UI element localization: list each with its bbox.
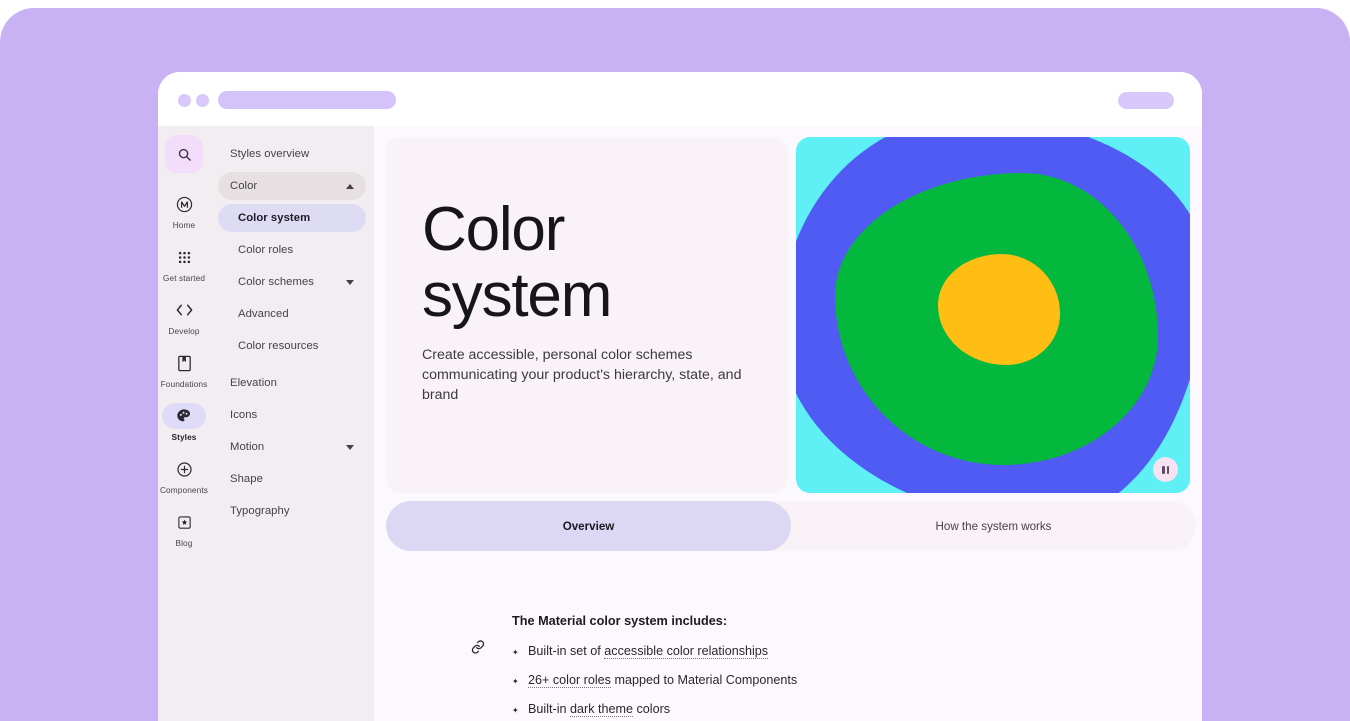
palette-icon <box>176 408 192 424</box>
styles-icon-wrap <box>162 403 206 429</box>
sidebar-item-blog[interactable]: Blog <box>158 509 210 548</box>
nav-item-color[interactable]: Color <box>218 172 366 200</box>
tab-how-the-system-works[interactable]: How the system works <box>791 501 1196 551</box>
list-item: ✦ Built-in set of accessible color relat… <box>512 644 1190 658</box>
nav-item-label: Motion <box>230 441 264 453</box>
pause-icon <box>1167 466 1170 474</box>
chevron-down-icon <box>346 445 354 450</box>
home-icon-wrap <box>162 191 206 217</box>
code-brackets-icon <box>175 302 194 318</box>
content-tabs: Overview How the system works <box>386 501 1196 551</box>
list-item-prefix: Built-in set of <box>528 644 604 658</box>
window-control-dot-2[interactable] <box>196 94 209 107</box>
inline-link[interactable]: dark theme <box>570 702 633 717</box>
tab-overview[interactable]: Overview <box>386 501 791 551</box>
address-bar[interactable] <box>218 91 396 109</box>
nav-item-label: Styles overview <box>230 148 309 160</box>
nav-item-label: Color schemes <box>238 276 314 288</box>
list-item: ✦ 26+ color roles mapped to Material Com… <box>512 673 1190 687</box>
article-heading: The Material color system includes: <box>512 614 1190 628</box>
nav-item-color-resources[interactable]: Color resources <box>218 332 366 360</box>
nav-item-motion[interactable]: Motion <box>218 433 366 461</box>
sidebar-item-label: Develop <box>168 326 199 336</box>
search-icon <box>177 147 192 162</box>
hero-text-card: Color system Create accessible, personal… <box>386 137 788 493</box>
sparkle-bullet-icon: ✦ <box>512 648 520 657</box>
sidebar-item-label: Components <box>160 485 208 495</box>
grid-apps-icon <box>177 250 192 265</box>
nav-item-label: Color roles <box>238 244 293 256</box>
list-item: ✦ Built-in dark theme colors <box>512 702 1190 716</box>
nav-item-typography[interactable]: Typography <box>218 497 366 525</box>
hero-artwork <box>796 137 1190 493</box>
components-icon-wrap <box>162 456 206 482</box>
search-button[interactable] <box>165 135 203 173</box>
nav-item-styles-overview[interactable]: Styles overview <box>218 140 366 168</box>
pause-animation-button[interactable] <box>1153 457 1178 482</box>
sidebar-item-foundations[interactable]: Foundations <box>158 350 210 389</box>
nav-item-label: Color <box>230 180 257 192</box>
sparkle-bullet-icon: ✦ <box>512 677 520 686</box>
sidebar-item-label: Foundations <box>161 379 208 389</box>
nav-item-label: Color system <box>238 212 310 224</box>
link-icon <box>470 639 486 655</box>
sidebar-item-get-started[interactable]: Get started <box>158 244 210 283</box>
list-item-text: 26+ color roles mapped to Material Compo… <box>528 673 797 687</box>
anchor-link-button[interactable] <box>470 639 486 660</box>
nav-item-label: Elevation <box>230 377 277 389</box>
sidebar-item-home[interactable]: Home <box>158 191 210 230</box>
browser-window: Home Get started <box>158 72 1202 721</box>
page-title: Color system <box>422 197 750 329</box>
nav-item-elevation[interactable]: Elevation <box>218 369 366 397</box>
page-subtitle: Create accessible, personal color scheme… <box>422 345 742 405</box>
nav-item-label: Shape <box>230 473 263 485</box>
sidebar-item-label: Get started <box>163 273 205 283</box>
sidebar-item-label: Blog <box>175 538 192 548</box>
icon-rail: Home Get started <box>158 126 210 721</box>
sidebar-item-develop[interactable]: Develop <box>158 297 210 336</box>
star-box-icon <box>177 515 192 530</box>
nav-item-advanced[interactable]: Advanced <box>218 300 366 328</box>
inline-link[interactable]: accessible color relationships <box>604 644 768 659</box>
nav-item-color-roles[interactable]: Color roles <box>218 236 366 264</box>
sidebar-item-components[interactable]: Components <box>158 456 210 495</box>
list-item-suffix: mapped to Material Components <box>611 673 797 687</box>
nav-item-icons[interactable]: Icons <box>218 401 366 429</box>
screenshot-stage: Home Get started <box>0 0 1350 721</box>
material-m-logo-icon <box>176 196 193 213</box>
browser-chrome <box>158 72 1202 126</box>
list-item-text: Built-in dark theme colors <box>528 702 670 716</box>
nav-item-color-system[interactable]: Color system <box>218 204 366 232</box>
develop-icon-wrap <box>162 297 206 323</box>
sparkle-bullet-icon: ✦ <box>512 706 520 715</box>
window-control-dot-1[interactable] <box>178 94 191 107</box>
sidebar-item-label: Home <box>173 220 196 230</box>
pause-icon <box>1162 466 1165 474</box>
plus-circle-icon <box>176 461 193 478</box>
nav-item-color-schemes[interactable]: Color schemes <box>218 268 366 296</box>
nav-item-label: Color resources <box>238 340 319 352</box>
chevron-up-icon <box>346 184 354 189</box>
main-content: Color system Create accessible, personal… <box>374 126 1202 721</box>
list-item-prefix: Built-in <box>528 702 570 716</box>
nav-item-label: Icons <box>230 409 257 421</box>
page-nav-sidebar: Styles overview Color Color system Color… <box>210 126 374 721</box>
page-title-line-2: system <box>422 263 750 329</box>
nav-item-label: Advanced <box>238 308 289 320</box>
foundations-icon-wrap <box>162 350 206 376</box>
bookmark-icon <box>177 355 192 372</box>
hero-row: Color system Create accessible, personal… <box>386 137 1190 493</box>
list-item-suffix: colors <box>633 702 670 716</box>
sidebar-item-styles[interactable]: Styles <box>158 403 210 442</box>
chevron-down-icon <box>346 280 354 285</box>
app-body: Home Get started <box>158 126 1202 721</box>
article-body: The Material color system includes: ✦ Bu… <box>470 614 1190 716</box>
nav-item-label: Typography <box>230 505 290 517</box>
blog-icon-wrap <box>162 509 206 535</box>
page-title-line-1: Color <box>422 197 750 263</box>
inline-link[interactable]: 26+ color roles <box>528 673 611 688</box>
nav-item-shape[interactable]: Shape <box>218 465 366 493</box>
list-item-text: Built-in set of accessible color relatio… <box>528 644 768 658</box>
get-started-icon-wrap <box>162 244 206 270</box>
article-section: The Material color system includes: ✦ Bu… <box>386 614 1190 716</box>
sidebar-item-label: Styles <box>171 432 196 442</box>
browser-toolbar-pill[interactable] <box>1118 92 1174 109</box>
